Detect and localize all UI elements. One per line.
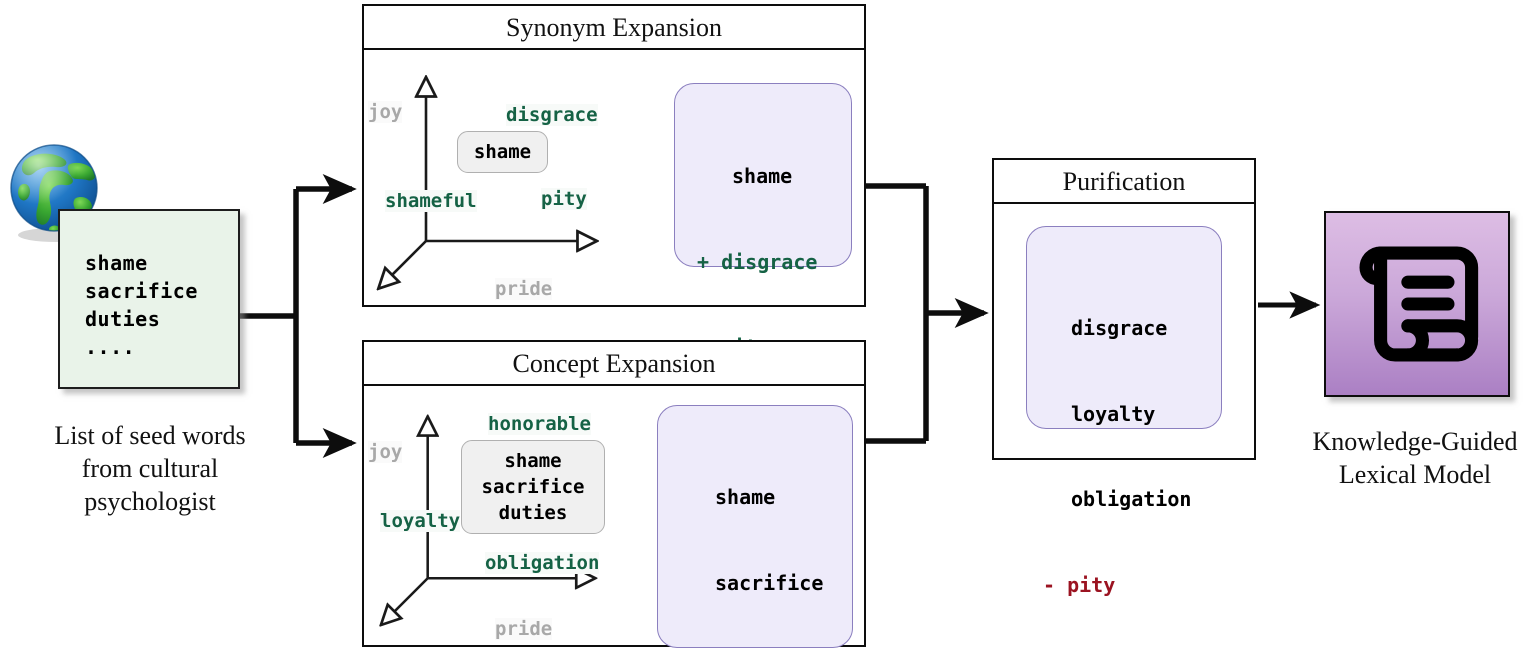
seed-chip-concept: shame sacrifice duties bbox=[461, 440, 605, 534]
lexical-model-caption: Knowledge-Guided Lexical Model bbox=[1286, 425, 1538, 491]
panel-title-concept: Concept Expansion bbox=[364, 342, 864, 386]
seed-word: shame bbox=[85, 249, 198, 277]
panel-body-synonym: joy pride disgrace shameful pity shame s… bbox=[364, 50, 864, 305]
caption-line: List of seed words bbox=[10, 419, 290, 452]
caption-line: from cultural bbox=[10, 452, 290, 485]
axis-label-pride: pride bbox=[495, 278, 552, 300]
result-card-concept: shame sacrifice duties + loyalty + oblig… bbox=[657, 405, 853, 648]
caption-line: Knowledge-Guided bbox=[1286, 425, 1538, 458]
axis-label-pride: pride bbox=[495, 618, 552, 640]
seed-words-caption: List of seed words from cultural psychol… bbox=[10, 419, 290, 518]
embedding-space-axes-synonym bbox=[364, 50, 664, 305]
result-removed-word: - pity bbox=[1043, 571, 1191, 600]
result-kept-word: obligation bbox=[1043, 485, 1191, 514]
result-card-purification: disgrace loyalty obligation - pity ... bbox=[1026, 226, 1222, 429]
neighbor-word-loyalty: loyalty bbox=[380, 510, 460, 532]
seed-words-box: shame sacrifice duties .... bbox=[58, 209, 240, 389]
caption-line: Lexical Model bbox=[1286, 458, 1538, 491]
seed-words-list: shame sacrifice duties .... bbox=[85, 249, 198, 361]
neighbor-word-obligation: obligation bbox=[485, 552, 599, 574]
panel-body-purification: disgrace loyalty obligation - pity ... bbox=[994, 204, 1254, 458]
result-kept-word: disgrace bbox=[1043, 314, 1191, 343]
neighbor-word-pity: pity bbox=[541, 188, 587, 210]
seed-word: duties bbox=[85, 305, 198, 333]
seed-word: sacrifice bbox=[85, 277, 198, 305]
result-card-synonym: shame + disgrace + pity + shameful ... bbox=[674, 83, 852, 267]
result-base-word: sacrifice bbox=[680, 569, 825, 598]
seed-chip-line: shame bbox=[474, 448, 592, 474]
result-base-word: shame bbox=[680, 483, 825, 512]
panel-title-purification: Purification bbox=[994, 160, 1254, 204]
caption-line: psychologist bbox=[10, 485, 290, 518]
panel-synonym-expansion: Synonym Expansion joy pride disgrace sha… bbox=[362, 4, 866, 307]
axis-label-joy: joy bbox=[368, 441, 402, 463]
axis-label-joy: joy bbox=[368, 101, 402, 123]
seed-chip-shame: shame bbox=[457, 131, 548, 173]
result-list-purification: disgrace loyalty obligation - pity ... bbox=[1043, 257, 1191, 651]
result-base-word: shame bbox=[697, 162, 817, 191]
panel-concept-expansion: Concept Expansion joy pride honorable lo… bbox=[362, 340, 866, 647]
panel-body-concept: joy pride honorable loyalty obligation s… bbox=[364, 386, 864, 645]
seed-chip-line: sacrifice bbox=[474, 474, 592, 500]
panel-purification: Purification disgrace loyalty obligation… bbox=[992, 158, 1256, 460]
result-list-concept: shame sacrifice duties + loyalty + oblig… bbox=[680, 426, 825, 651]
scroll-document-icon bbox=[1326, 213, 1508, 395]
seed-word-ellipsis: .... bbox=[85, 333, 198, 361]
lexical-model-box bbox=[1324, 211, 1510, 397]
diagram-canvas: shame sacrifice duties .... List of seed… bbox=[0, 0, 1538, 651]
neighbor-word-honorable: honorable bbox=[488, 413, 591, 435]
panel-title-synonym: Synonym Expansion bbox=[364, 6, 864, 50]
neighbor-word-disgrace: disgrace bbox=[506, 104, 598, 126]
seed-chip-line: duties bbox=[474, 500, 592, 526]
result-kept-word: loyalty bbox=[1043, 400, 1191, 429]
result-added-word: + disgrace bbox=[697, 248, 817, 277]
neighbor-word-shameful: shameful bbox=[385, 190, 477, 212]
